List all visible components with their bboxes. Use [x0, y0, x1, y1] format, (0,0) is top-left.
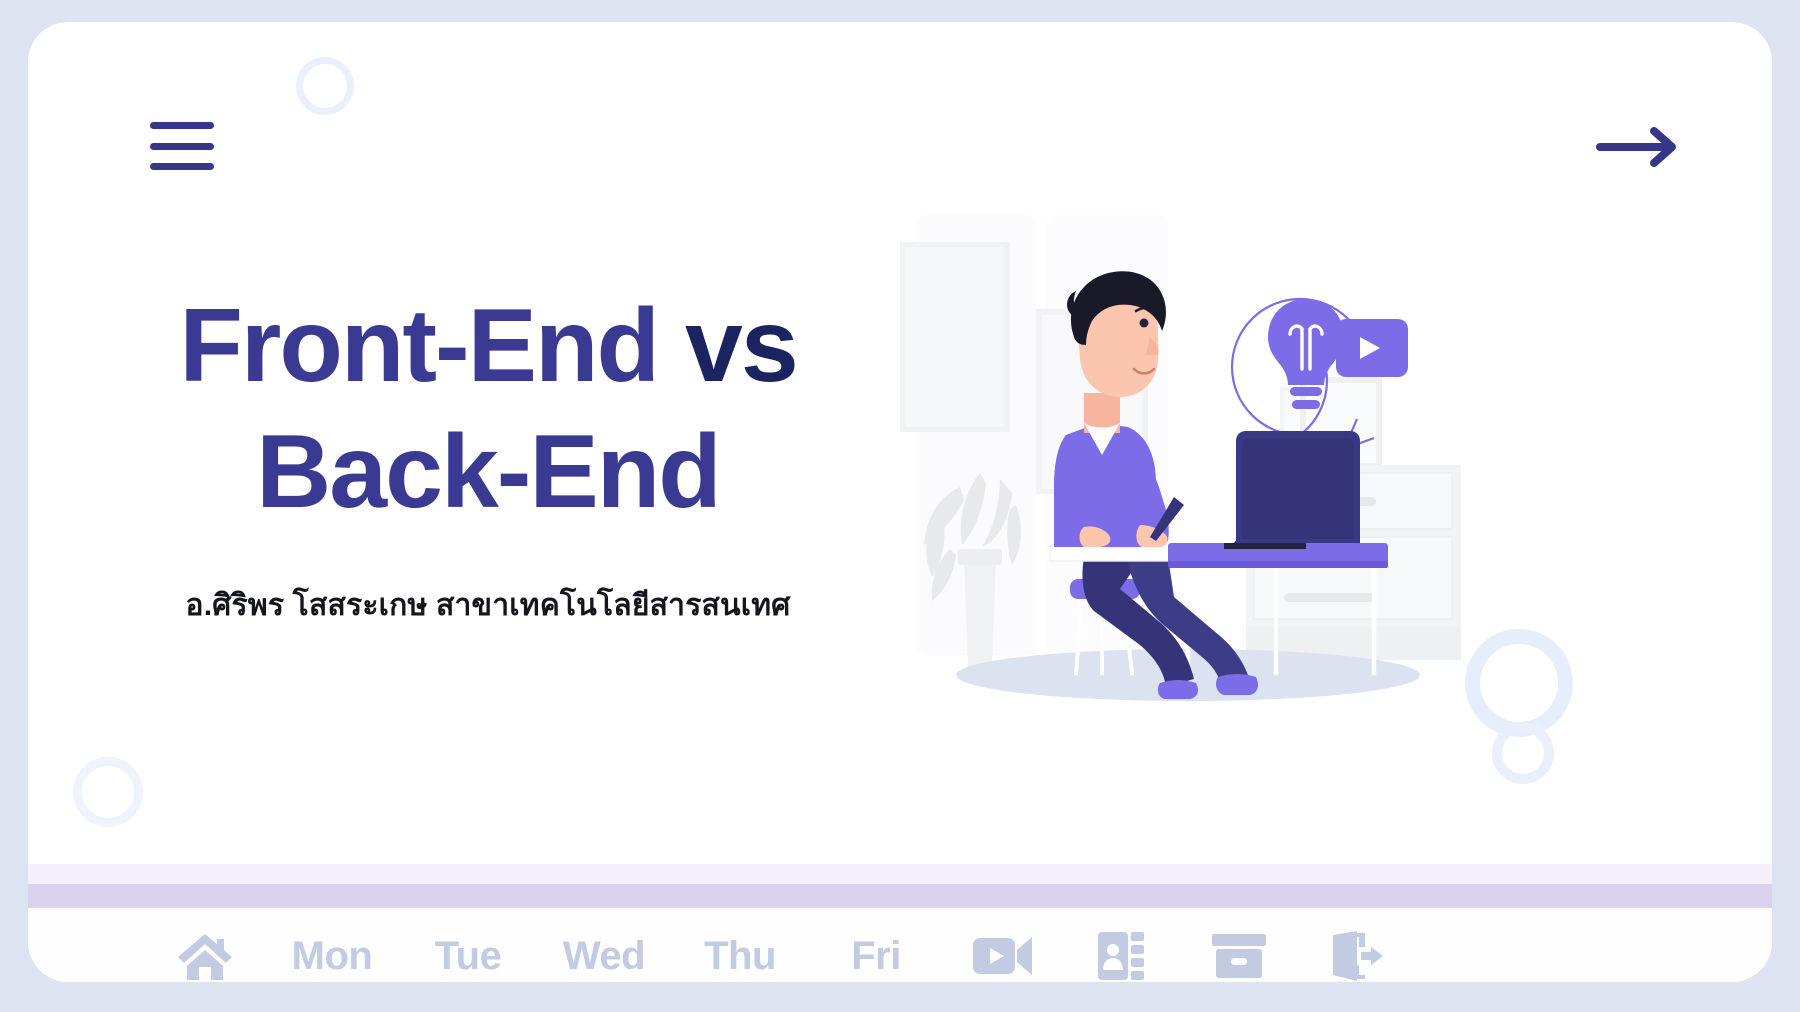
home-icon[interactable] [146, 921, 264, 982]
day-fri[interactable]: Fri [808, 921, 944, 982]
slide-title-line2: Back-End [88, 410, 888, 536]
hamburger-line-1 [150, 122, 214, 129]
day-wed[interactable]: Wed [536, 921, 672, 982]
taskbar-glow-strip [28, 864, 1772, 886]
taskbar: Mon Tue Wed Thu Fri [28, 908, 1772, 982]
day-mon[interactable]: Mon [264, 921, 400, 982]
slide-title-line1: Front-End vs [88, 284, 888, 410]
day-tue[interactable]: Tue [400, 921, 536, 982]
decor-ring-bottom-left [73, 757, 143, 827]
slide-card: Front-End vs Back-End อ.ศิริพร โสสระเกษ … [28, 22, 1772, 982]
decor-ring-top-left [296, 57, 354, 115]
taskbar-divider [28, 884, 1772, 908]
slide-subtitle: อ.ศิริพร โสสระเกษ สาขาเทคโนโลยีสารสนเทศ [88, 582, 888, 629]
hamburger-line-3 [150, 163, 214, 170]
title-front-end: Front-End [179, 288, 658, 404]
arrow-right-icon[interactable] [1596, 125, 1682, 169]
slide-stage: Front-End vs Back-End อ.ศิริพร โสสระเกษ … [0, 0, 1800, 1012]
day-thu[interactable]: Thu [672, 921, 808, 982]
hamburger-menu-icon[interactable] [150, 122, 214, 170]
contact-book-icon[interactable] [1062, 921, 1180, 982]
archive-box-icon[interactable] [1180, 921, 1298, 982]
logout-icon[interactable] [1298, 921, 1416, 982]
decor-ring-bottom-right-small [1492, 722, 1554, 784]
title-block: Front-End vs Back-End อ.ศิริพร โสสระเกษ … [88, 284, 888, 629]
hamburger-line-2 [150, 143, 214, 150]
person-working-at-desk-illustration [888, 197, 1528, 727]
title-vs: vs [685, 288, 797, 404]
video-camera-icon[interactable] [944, 921, 1062, 982]
